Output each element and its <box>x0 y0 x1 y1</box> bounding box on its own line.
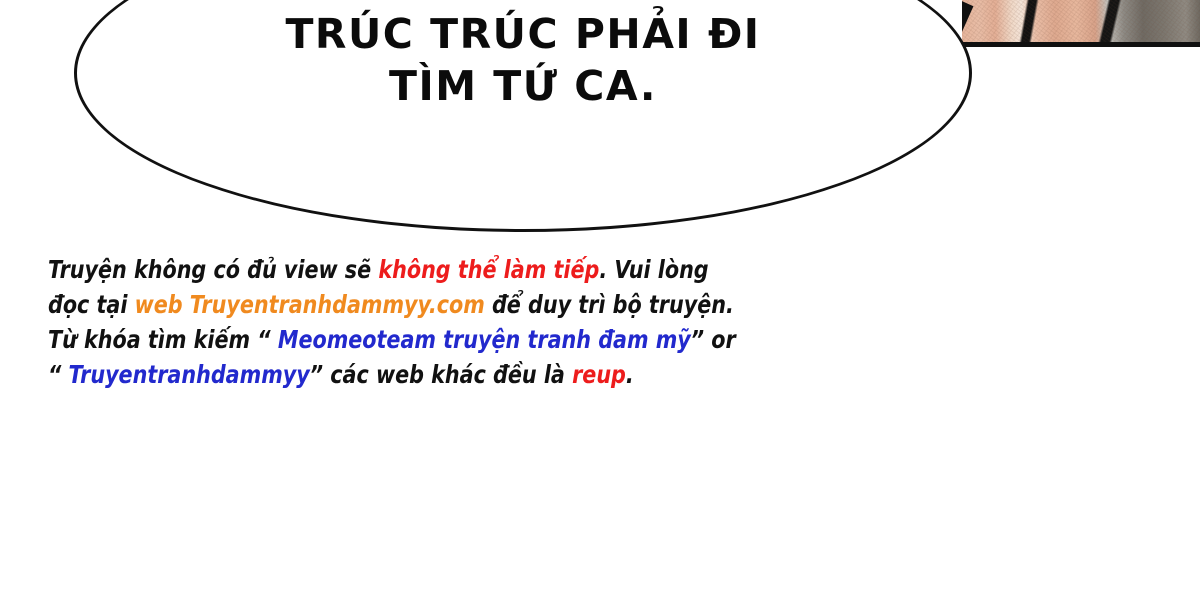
speech-bubble-line-1: TRÚC TRÚC PHẢI ĐI <box>74 8 972 60</box>
notice-line-3-part-a: Từ khóa tìm kiếm “ <box>48 325 278 354</box>
notice-line-1-part-a: Truyện không có đủ view sẽ <box>48 255 378 284</box>
panel-artwork <box>962 0 1200 43</box>
notice-line-3-part-c: ” or <box>691 325 736 354</box>
notice-line-4-part-c: ” các web khác đều là <box>310 360 572 389</box>
notice-line-2-part-c: để duy trì bộ truyện. <box>485 290 734 319</box>
search-keyword-secondary: Truyentranhdammyy <box>69 360 310 389</box>
speech-bubble-line-2: TÌM TỨ CA. <box>74 60 972 112</box>
website-link[interactable]: web Truyentranhdammyy.com <box>135 290 485 319</box>
comic-page: TRÚC TRÚC PHẢI ĐI TÌM TỨ CA. Truyện khôn… <box>0 0 1200 600</box>
notice-line-4-part-a: “ <box>48 360 69 389</box>
notice-line-2: đọc tại web Truyentranhdammyy.com để duy… <box>48 287 1060 322</box>
reup-warning: reup <box>572 360 626 389</box>
notice-line-2-part-a: đọc tại <box>48 290 135 319</box>
notice-line-3: Từ khóa tìm kiếm “ Meomeoteam truyện tra… <box>48 322 1060 357</box>
notice-line-4: “ Truyentranhdammyy” các web khác đều là… <box>48 357 1060 392</box>
notice-line-1: Truyện không có đủ view sẽ không thể làm… <box>48 252 1060 287</box>
notice-line-4-part-e: . <box>626 360 634 389</box>
speech-bubble-text: TRÚC TRÚC PHẢI ĐI TÌM TỨ CA. <box>74 8 972 112</box>
notice-paragraph: Truyện không có đủ view sẽ không thể làm… <box>48 252 1060 392</box>
notice-line-1-highlight: không thể làm tiếp <box>378 255 599 284</box>
panel-bottom-border <box>962 42 1200 47</box>
manga-panel-fragment <box>962 0 1200 47</box>
notice-line-1-part-c: . Vui lòng <box>599 255 708 284</box>
panel-texture-overlay <box>962 0 1200 43</box>
search-keyword-primary: Meomeoteam truyện tranh đam mỹ <box>278 325 691 354</box>
